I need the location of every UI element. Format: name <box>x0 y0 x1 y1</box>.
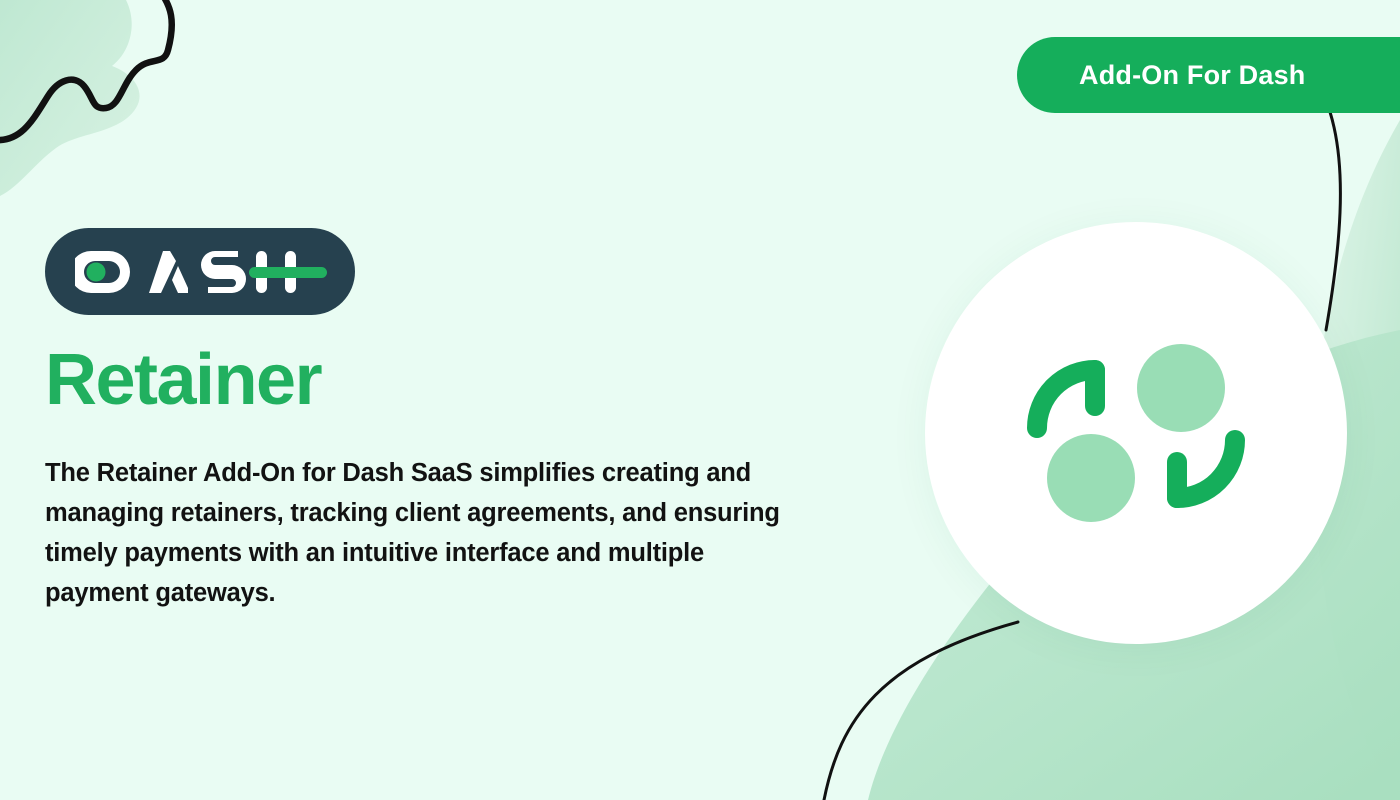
top-left-blob <box>0 0 140 196</box>
dash-wordmark-icon <box>75 247 327 297</box>
page-title: Retainer <box>45 343 835 419</box>
retainer-cycle-icon <box>1021 328 1251 538</box>
addon-badge: Add-On For Dash <box>1017 37 1400 113</box>
addon-badge-label: Add-On For Dash <box>1079 60 1306 91</box>
bottom-left-arc-line <box>824 622 1018 800</box>
dash-logo <box>45 228 355 315</box>
promo-banner: Add-On For Dash Retainer <box>0 0 1400 800</box>
right-arc-line <box>1326 112 1340 330</box>
hero-content: Retainer The Retainer Add-On for Dash Sa… <box>45 228 835 613</box>
illustration-circle <box>925 222 1347 644</box>
hero-description: The Retainer Add-On for Dash SaaS simpli… <box>45 453 805 613</box>
top-left-wave-line <box>0 0 172 140</box>
